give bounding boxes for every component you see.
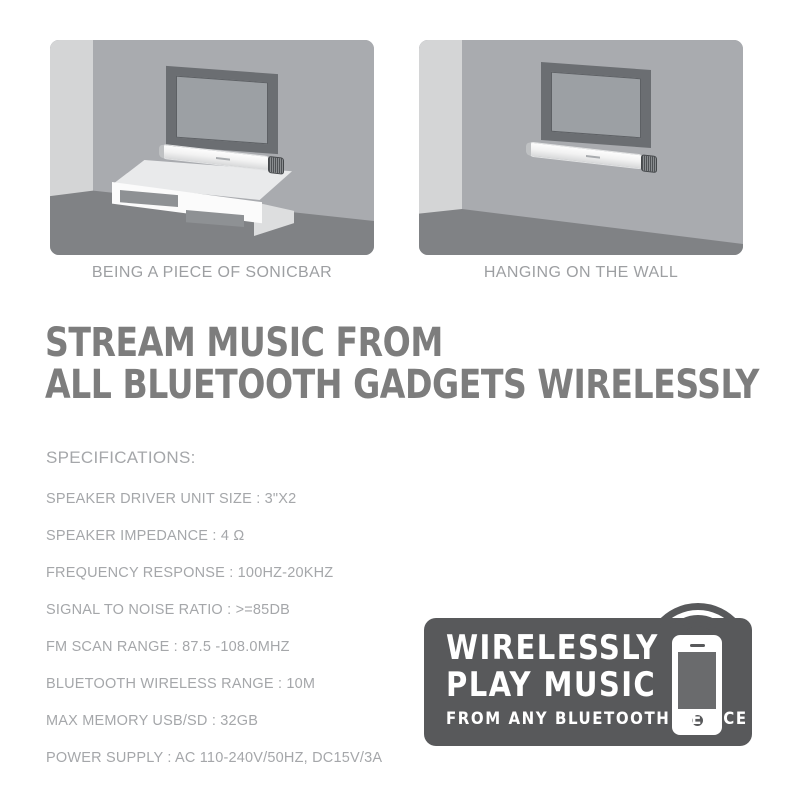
headline-line-1: STREAM MUSIC FROM — [45, 322, 707, 364]
spec-speaker-impedance: SPEAKER IMPEDANCE : 4 Ω — [46, 528, 476, 544]
badge-line-1: WIRELESSLY — [446, 630, 663, 667]
soundbar-display — [216, 157, 230, 161]
tv-screen — [176, 76, 268, 145]
soundbar-end-cap — [159, 145, 164, 159]
tv-screen — [551, 72, 641, 139]
soundbar-speaker-grille — [268, 156, 284, 175]
headline: STREAM MUSIC FROM ALL BLUETOOTH GADGETS … — [45, 322, 707, 406]
soundbar-end-cap — [526, 142, 531, 156]
spec-signal-to-noise-ratio: SIGNAL TO NOISE RATIO : >=85DB — [46, 602, 476, 618]
soundbar-speaker-grille — [641, 154, 657, 173]
caption-wall-mount: HANGING ON THE WALL — [419, 264, 743, 282]
television — [541, 62, 651, 148]
wireless-play-music-badge: WIRELESSLY PLAY MUSIC FROM ANY BLUETOOTH… — [424, 618, 752, 746]
scene-captions: BEING A PIECE OF SONICBAR HANGING ON THE… — [0, 264, 787, 290]
headline-line-2: ALL BLUETOOTH GADGETS WIRELESSLY — [45, 364, 707, 406]
spec-frequency-response: FREQUENCY RESPONSE : 100HZ-20KHZ — [46, 565, 476, 581]
tv-console — [112, 160, 292, 232]
badge-line-2: PLAY MUSIC — [446, 667, 663, 704]
product-scene-panels — [0, 40, 787, 255]
scene-panel-wall-mount — [419, 40, 743, 255]
specifications-section: SPECIFICATIONS: SPEAKER DRIVER UNIT SIZE… — [46, 448, 476, 787]
phone-screen — [678, 652, 716, 709]
spec-max-memory: MAX MEMORY USB/SD : 32GB — [46, 713, 476, 729]
television — [166, 66, 278, 154]
spec-fm-scan-range: FM SCAN RANGE : 87.5 -108.0MHZ — [46, 639, 476, 655]
caption-sonicbar: BEING A PIECE OF SONICBAR — [50, 264, 374, 282]
spec-power-supply: POWER SUPPLY : AC 110-240V/50HZ, DC15V/3… — [46, 750, 476, 766]
badge-line-3: FROM ANY BLUETOOTH DEVICE — [446, 708, 669, 730]
badge-text-block: WIRELESSLY PLAY MUSIC FROM ANY BLUETOOTH… — [446, 630, 674, 730]
spec-bluetooth-wireless-range: BLUETOOTH WIRELESS RANGE : 10M — [46, 676, 476, 692]
scene-panel-sonicbar — [50, 40, 374, 255]
wifi-signal-icon — [652, 578, 744, 638]
phone-earpiece — [690, 644, 705, 647]
specifications-title: SPECIFICATIONS: — [46, 448, 476, 468]
soundbar-display — [586, 155, 600, 159]
spec-speaker-driver-unit-size: SPEAKER DRIVER UNIT SIZE : 3"X2 — [46, 491, 476, 507]
